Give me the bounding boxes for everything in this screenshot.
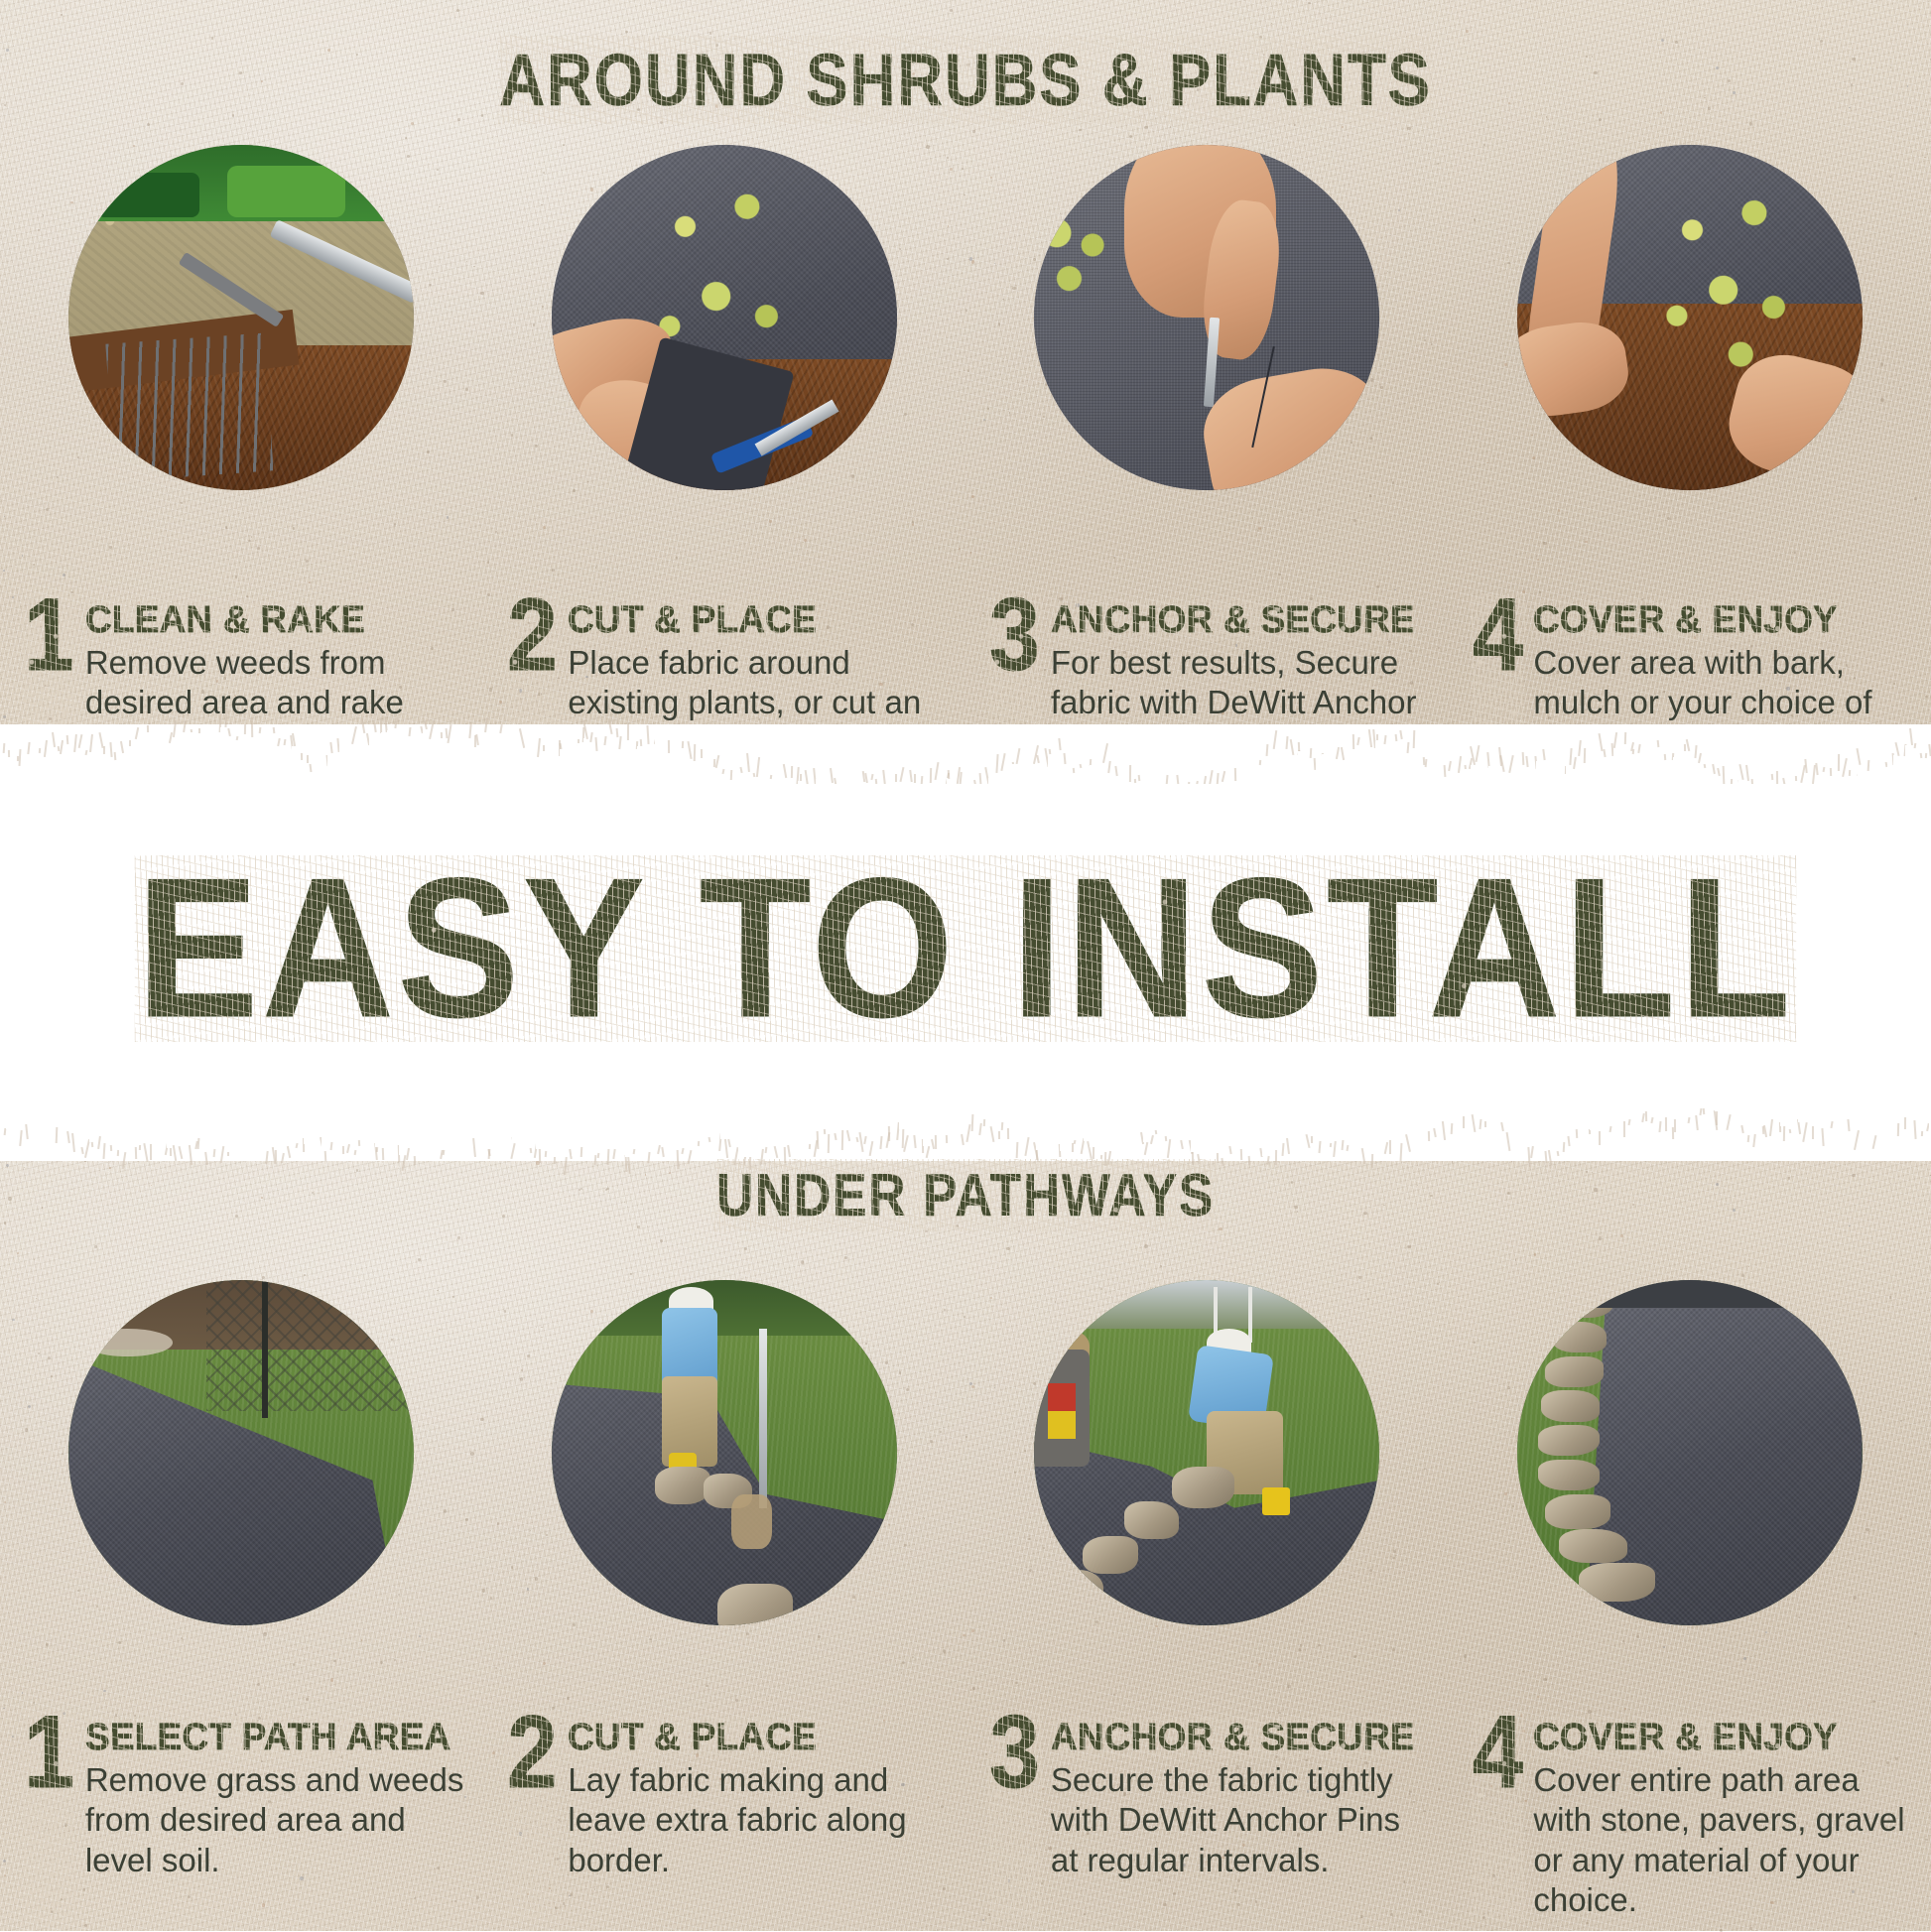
step-item: 1 CLEAN & RAKE Remove weeds from desired… bbox=[0, 595, 483, 763]
photo-cell bbox=[483, 1280, 966, 1625]
step-description: Cover area with bark, mulch or your choi… bbox=[1533, 643, 1917, 763]
photo-cell bbox=[1449, 1280, 1931, 1625]
top-section-title: AROUND SHRUBS & PLANTS bbox=[135, 38, 1796, 122]
fabric-laid-on-lawn-by-fence-photo bbox=[68, 1280, 414, 1625]
bottom-steps-row: 1 SELECT PATH AREA Remove grass and weed… bbox=[0, 1713, 1931, 1920]
step-item: 3 ANCHOR & SECURE For best results, Secu… bbox=[965, 595, 1449, 763]
step-heading: COVER & ENJOY bbox=[1533, 601, 1838, 639]
step-number: 2 bbox=[507, 595, 558, 763]
step-item: 2 CUT & PLACE Place fabric around existi… bbox=[483, 595, 966, 763]
top-steps-row: 1 CLEAN & RAKE Remove weeds from desired… bbox=[0, 595, 1931, 763]
spreading-mulch-photo bbox=[1517, 145, 1863, 490]
step-heading: ANCHOR & SECURE bbox=[1051, 1719, 1415, 1756]
step-item: 3 ANCHOR & SECURE Secure the fabric tigh… bbox=[965, 1713, 1449, 1920]
step-heading: SELECT PATH AREA bbox=[85, 1719, 451, 1756]
banner: EASY TO INSTALL bbox=[0, 784, 1931, 1113]
rake-on-mulch-photo bbox=[68, 145, 414, 490]
step-heading: COVER & ENJOY bbox=[1533, 1719, 1838, 1756]
step-item: 4 COVER & ENJOY Cover area with bark, mu… bbox=[1449, 595, 1931, 763]
step-description: Secure the fabric tightly with DeWitt An… bbox=[1051, 1760, 1435, 1880]
photo-cell bbox=[1449, 145, 1931, 490]
step-item: 4 COVER & ENJOY Cover entire path area w… bbox=[1449, 1713, 1931, 1920]
cutting-fabric-around-shrub-photo bbox=[552, 145, 897, 490]
step-description: Lay fabric making and leave extra fabric… bbox=[568, 1760, 952, 1880]
step-item: 1 SELECT PATH AREA Remove grass and weed… bbox=[0, 1713, 483, 1920]
top-section-title-text: AROUND SHRUBS & PLANTS bbox=[499, 38, 1431, 122]
step-heading: ANCHOR & SECURE bbox=[1051, 601, 1415, 639]
step-description: Remove grass and weeds from desired area… bbox=[85, 1760, 469, 1880]
photo-cell bbox=[483, 145, 966, 490]
inserting-anchor-pin-photo bbox=[1034, 145, 1379, 490]
photo-cell bbox=[965, 145, 1449, 490]
step-number: 3 bbox=[989, 1713, 1040, 1920]
banner-text: EASY TO INSTALL bbox=[137, 857, 1795, 1040]
step-number: 4 bbox=[1473, 1713, 1523, 1920]
step-description: Place fabric around existing plants, or … bbox=[568, 643, 952, 763]
bottom-section-title-text: UNDER PATHWAYS bbox=[716, 1161, 1215, 1229]
top-photo-row bbox=[0, 145, 1931, 490]
step-heading: CLEAN & RAKE bbox=[85, 601, 365, 639]
step-number: 3 bbox=[989, 595, 1040, 763]
step-description: For best results, Secure fabric with DeW… bbox=[1051, 643, 1435, 763]
finished-stone-bordered-path-photo bbox=[1517, 1280, 1863, 1625]
step-description: Remove weeds from desired area and rake … bbox=[85, 643, 469, 763]
bottom-photo-row bbox=[0, 1280, 1931, 1625]
worker-placing-stones-on-fabric-photo bbox=[552, 1280, 897, 1625]
step-number: 1 bbox=[24, 595, 74, 763]
step-number: 4 bbox=[1473, 595, 1523, 763]
two-workers-setting-path-stones-photo bbox=[1034, 1280, 1379, 1625]
bottom-section-title: UNDER PATHWAYS bbox=[135, 1161, 1796, 1229]
step-heading: CUT & PLACE bbox=[568, 601, 817, 639]
photo-cell bbox=[0, 145, 483, 490]
photo-cell bbox=[0, 1280, 483, 1625]
step-number: 2 bbox=[507, 1713, 558, 1920]
step-description: Cover entire path area with stone, paver… bbox=[1533, 1760, 1917, 1920]
step-heading: CUT & PLACE bbox=[568, 1719, 817, 1756]
photo-cell bbox=[965, 1280, 1449, 1625]
step-item: 2 CUT & PLACE Lay fabric making and leav… bbox=[483, 1713, 966, 1920]
step-number: 1 bbox=[24, 1713, 74, 1920]
